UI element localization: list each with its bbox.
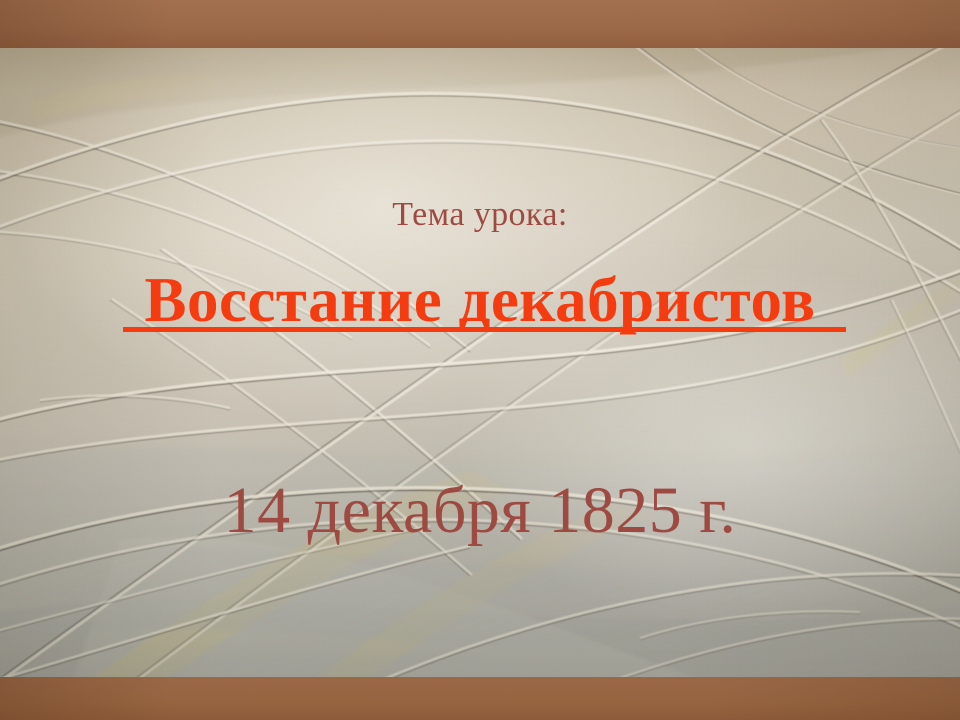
slide-date: 14 декабря 1825 г. (0, 478, 960, 544)
lesson-topic-label: Тема урока: (0, 198, 960, 232)
title-underline (123, 327, 846, 332)
top-band-shading (0, 0, 960, 48)
bottom-border-band (0, 677, 960, 720)
bottom-band-shading (0, 677, 960, 720)
slide-title: Восстание декабристов (0, 269, 960, 332)
presentation-slide: Тема урока: Восстание декабристов 14 дек… (0, 0, 960, 720)
top-border-band (0, 0, 960, 48)
background-texture (0, 0, 960, 720)
